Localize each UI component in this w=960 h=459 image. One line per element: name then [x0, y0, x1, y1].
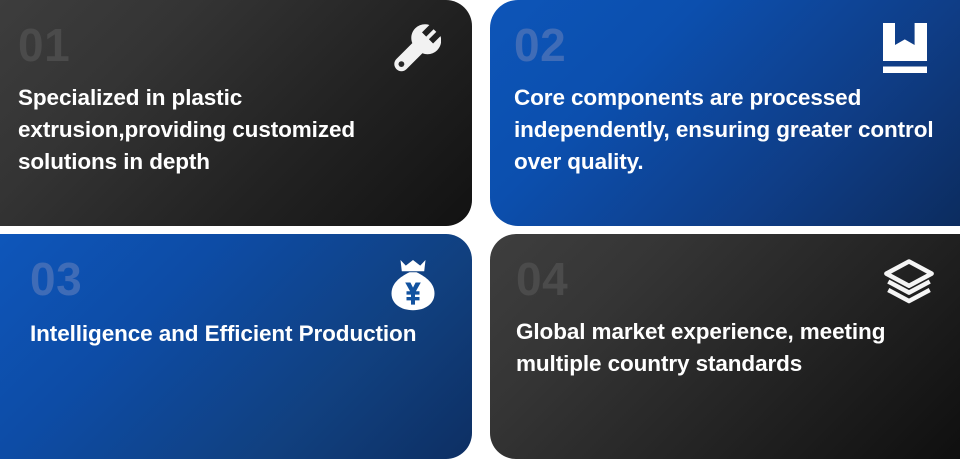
feature-card-02[interactable]: 02 Core components are processed indepen… — [490, 0, 960, 226]
feature-card-01[interactable]: 01 Specialized in plastic extrusion,prov… — [0, 0, 472, 226]
card-text-04: Global market experience, meeting multip… — [516, 316, 934, 380]
card-number-01: 01 — [18, 22, 446, 68]
feature-card-04[interactable]: 04 Global market experience, meeting mul… — [490, 234, 960, 459]
card-text-01: Specialized in plastic extrusion,providi… — [18, 82, 446, 178]
card-number-03: 03 — [30, 256, 446, 302]
card-number-04: 04 — [516, 256, 934, 302]
feature-card-grid: 01 Specialized in plastic extrusion,prov… — [0, 0, 960, 459]
card-number-02: 02 — [514, 22, 934, 68]
card-text-03: Intelligence and Efficient Production — [30, 318, 446, 350]
feature-card-03[interactable]: 03 Intelligence and Efficient Production — [0, 234, 472, 459]
card-text-02: Core components are processed independen… — [514, 82, 934, 178]
